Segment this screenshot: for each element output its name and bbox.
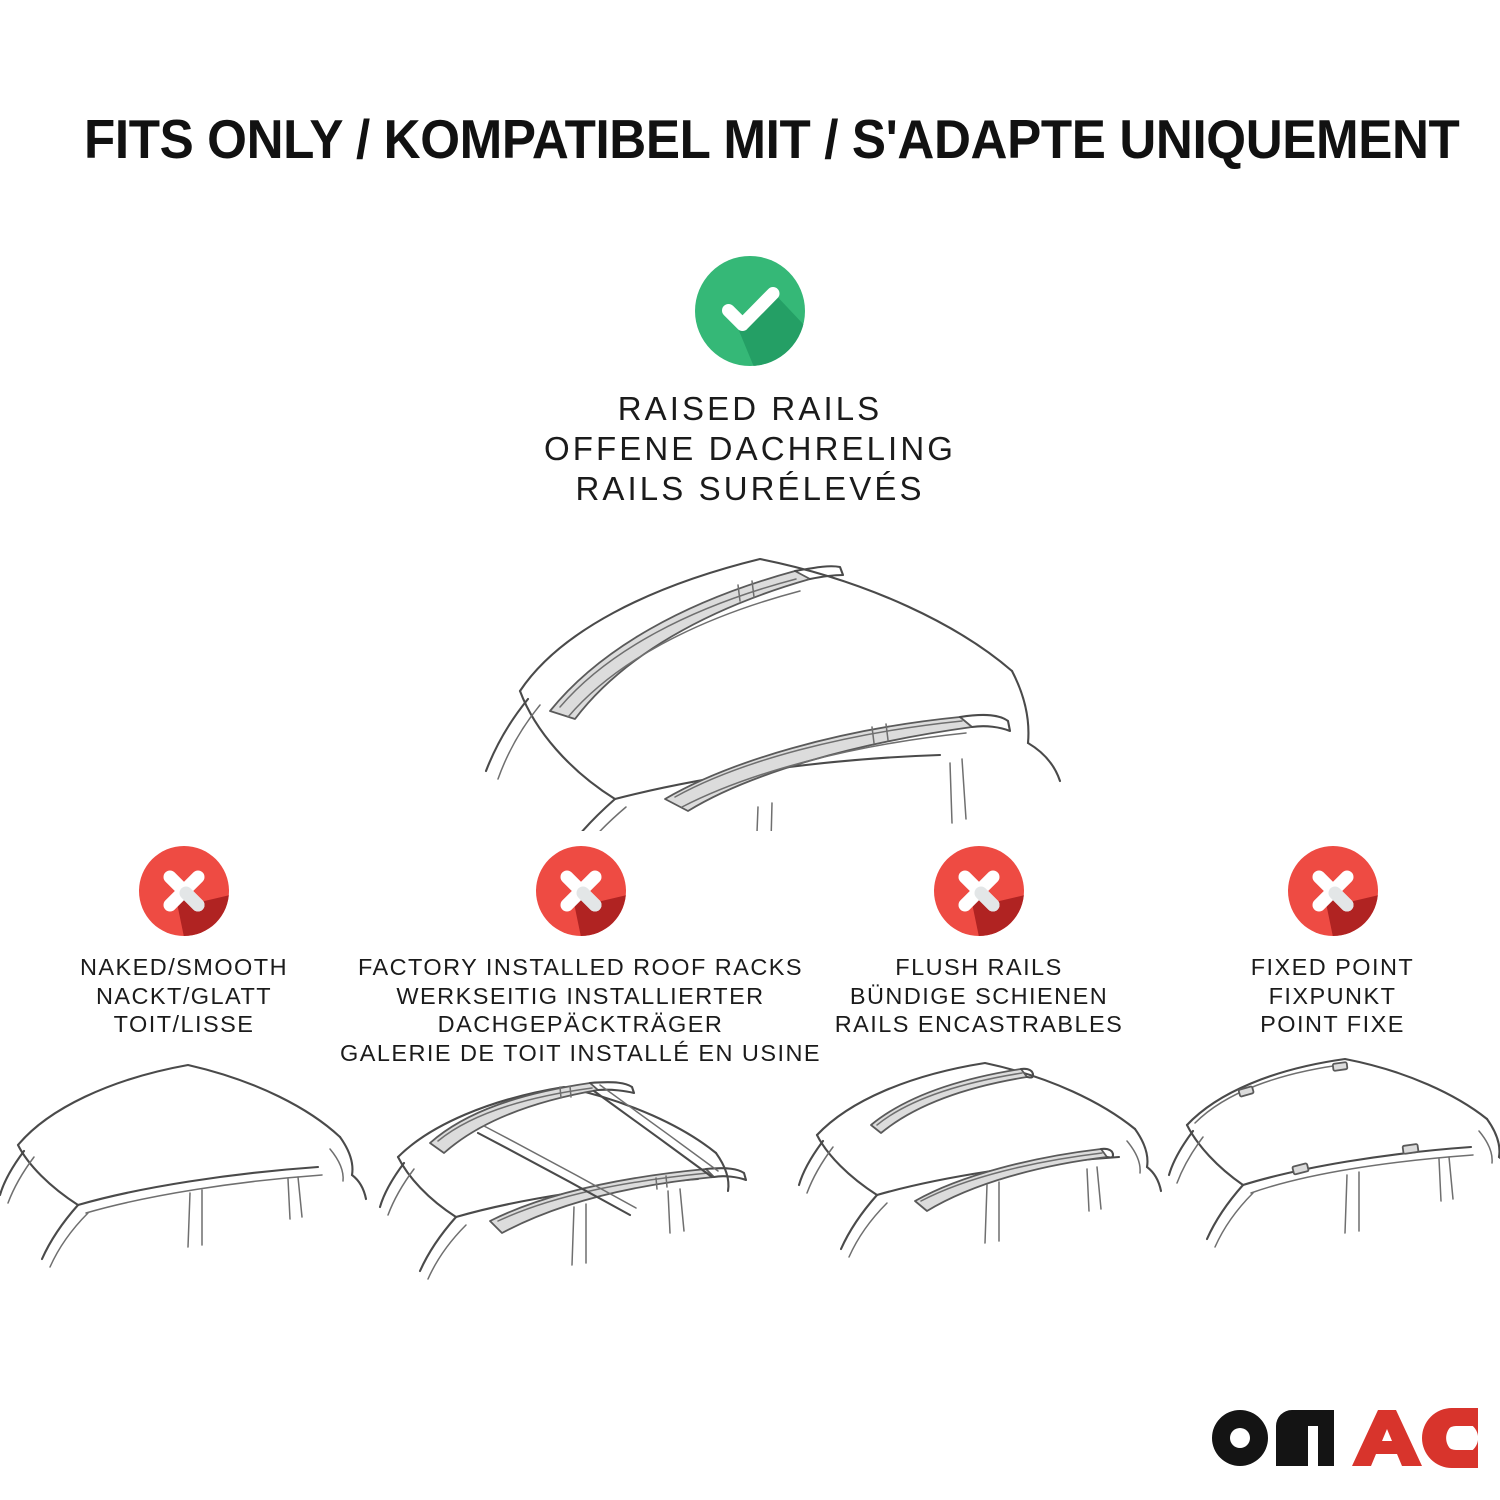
label-line-en: FLUSH RAILS bbox=[835, 953, 1124, 982]
label-line-fr: TOIT/LISSE bbox=[80, 1010, 288, 1039]
compatible-section: RAISED RAILS OFFENE DACHRELING RAILS SUR… bbox=[0, 255, 1500, 831]
car-roof-factory-racks-illustration bbox=[368, 1081, 793, 1316]
car-roof-raised-rails-illustration bbox=[400, 531, 1100, 831]
compatible-label-line-de: OFFENE DACHRELING bbox=[0, 429, 1500, 469]
omac-logo bbox=[1206, 1404, 1482, 1478]
label-line-de: BÜNDIGE SCHIENEN bbox=[835, 982, 1124, 1011]
cross-circle-icon bbox=[933, 845, 1025, 937]
label-line-de: FIXPUNKT bbox=[1251, 982, 1415, 1011]
compatible-label-line-fr: RAILS SURÉLEVÉS bbox=[0, 469, 1500, 509]
label-line-fr: RAILS ENCASTRABLES bbox=[835, 1010, 1124, 1039]
incompatible-item-factory-racks: FACTORY INSTALLED ROOF RACKS WERKSEITIG … bbox=[368, 845, 793, 1316]
compatible-label: RAISED RAILS OFFENE DACHRELING RAILS SUR… bbox=[0, 389, 1500, 509]
page-title: FITS ONLY / KOMPATIBEL MIT / S'ADAPTE UN… bbox=[84, 108, 1330, 170]
compatible-label-line-en: RAISED RAILS bbox=[0, 389, 1500, 429]
label-line-de-2: DACHGEPÄCKTRÄGER bbox=[340, 1010, 821, 1039]
incompatible-item-fixed-point: FIXED POINT FIXPUNKT POINT FIXE bbox=[1165, 845, 1500, 1288]
car-roof-flush-rails-illustration bbox=[793, 1053, 1165, 1288]
check-circle-icon bbox=[694, 255, 806, 367]
cross-circle-icon bbox=[1287, 845, 1379, 937]
label-line-fr: GALERIE DE TOIT INSTALLÉ EN USINE bbox=[340, 1039, 821, 1068]
incompatible-section: NAKED/SMOOTH NACKT/GLATT TOIT/LISSE bbox=[0, 845, 1500, 1316]
label-line-en: FIXED POINT bbox=[1251, 953, 1415, 982]
car-roof-naked-smooth-illustration bbox=[0, 1053, 368, 1288]
car-roof-fixed-point-illustration bbox=[1165, 1053, 1500, 1288]
incompatible-label-fixed-point: FIXED POINT FIXPUNKT POINT FIXE bbox=[1251, 953, 1415, 1039]
incompatible-label-flush-rails: FLUSH RAILS BÜNDIGE SCHIENEN RAILS ENCAS… bbox=[835, 953, 1124, 1039]
label-line-fr: POINT FIXE bbox=[1251, 1010, 1415, 1039]
label-line-de: NACKT/GLATT bbox=[80, 982, 288, 1011]
incompatible-label-factory-racks: FACTORY INSTALLED ROOF RACKS WERKSEITIG … bbox=[340, 953, 821, 1067]
cross-circle-icon bbox=[138, 845, 230, 937]
incompatible-label-naked-smooth: NAKED/SMOOTH NACKT/GLATT TOIT/LISSE bbox=[80, 953, 288, 1039]
label-line-en: FACTORY INSTALLED ROOF RACKS bbox=[340, 953, 821, 982]
incompatible-item-naked-smooth: NAKED/SMOOTH NACKT/GLATT TOIT/LISSE bbox=[0, 845, 368, 1288]
cross-circle-icon bbox=[535, 845, 627, 937]
label-line-en: NAKED/SMOOTH bbox=[80, 953, 288, 982]
label-line-de-1: WERKSEITIG INSTALLIERTER bbox=[340, 982, 821, 1011]
incompatible-item-flush-rails: FLUSH RAILS BÜNDIGE SCHIENEN RAILS ENCAS… bbox=[793, 845, 1165, 1288]
